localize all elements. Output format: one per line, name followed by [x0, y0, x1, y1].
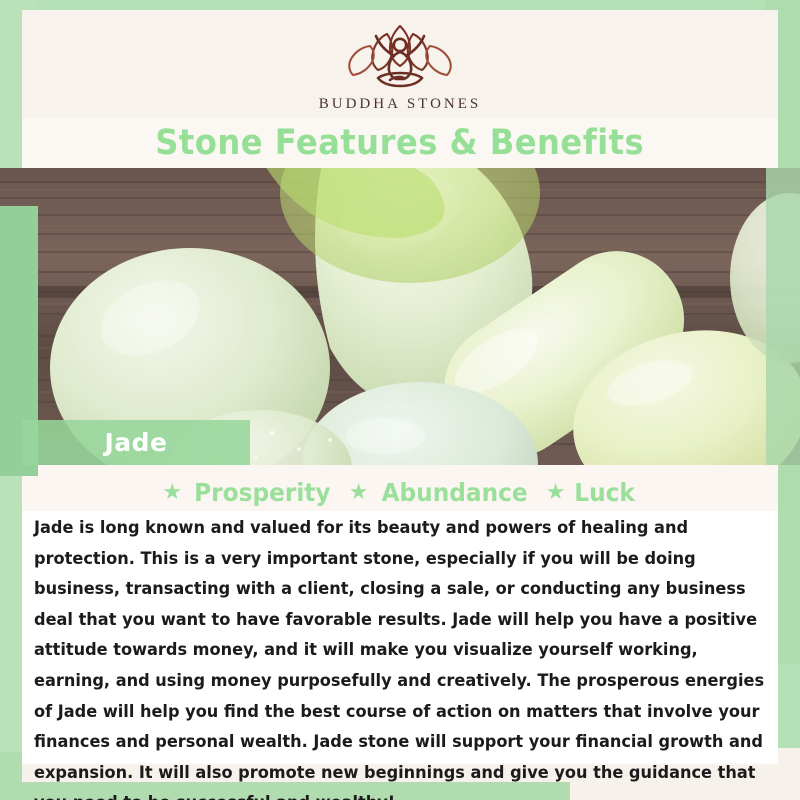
benefit-item-prosperity: ★ Prosperity [162, 478, 335, 507]
benefits-row: ★ Prosperity ★ Abundance ★ Luck [22, 465, 778, 507]
poster-root: BUDDHA STONES Stone Features & Benefits [0, 0, 800, 800]
brand-wordmark: BUDDHA STONES [319, 96, 482, 113]
title-band: Stone Features & Benefits [22, 118, 778, 168]
page-title: Stone Features & Benefits [156, 123, 645, 163]
description-panel: Jade is long known and valued for its be… [22, 511, 778, 763]
stone-name-label: Jade [104, 428, 167, 457]
benefit-label-luck: Luck [575, 478, 636, 507]
decor-green-photo-right-column [766, 168, 800, 465]
star-icon: ★ [546, 481, 566, 503]
content-panel: ★ Prosperity ★ Abundance ★ Luck Jade is … [22, 465, 778, 765]
star-icon: ★ [162, 481, 182, 503]
benefit-label-abundance: Abundance [381, 478, 527, 507]
benefit-item-abundance: ★ Abundance [349, 478, 533, 507]
lotus-meditation-icon [334, 18, 466, 92]
stone-name-banner: Jade [22, 420, 250, 465]
description-text: Jade is long known and valued for its be… [34, 513, 777, 800]
brand-header: BUDDHA STONES [22, 10, 778, 120]
benefit-item-luck: ★ Luck [546, 478, 638, 507]
star-icon: ★ [349, 481, 369, 503]
benefit-label-prosperity: Prosperity [194, 478, 330, 507]
